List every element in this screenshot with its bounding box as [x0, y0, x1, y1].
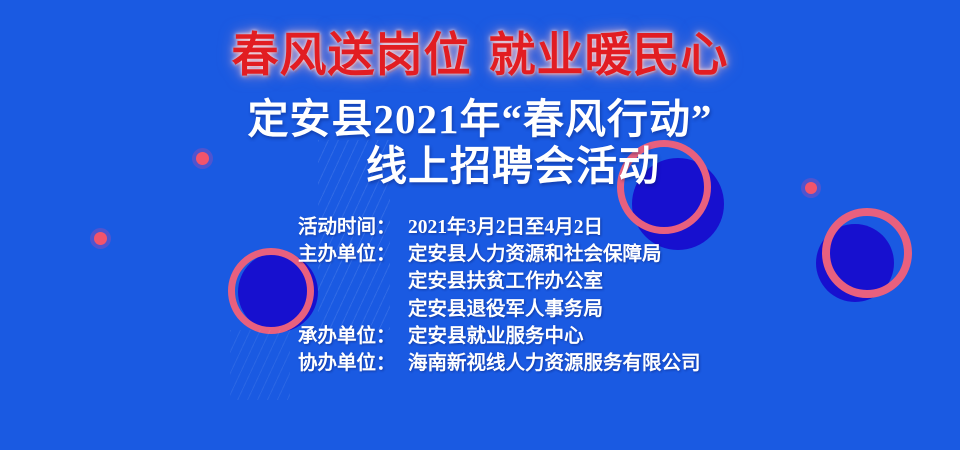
detail-label: 活动时间：	[298, 214, 408, 241]
detail-value: 海南新视线人力资源服务有限公司	[408, 350, 701, 377]
poster-headline: 春风送岗位就业暖民心	[0, 31, 960, 82]
poster-details: 活动时间： 2021年3月2日至4月2日 主办单位： 定安县人力资源和社会保障局…	[298, 214, 701, 377]
detail-row-coorganizer: 协办单位： 海南新视线人力资源服务有限公司	[298, 350, 701, 377]
detail-row-organizer: 主办单位： 定安县人力资源和社会保障局 定安县扶贫工作办公室 定安县退役军人事务…	[298, 241, 701, 323]
detail-value: 2021年3月2日至4月2日	[408, 214, 603, 241]
detail-label: 主办单位：	[298, 241, 408, 268]
detail-value-group: 定安县人力资源和社会保障局 定安县扶贫工作办公室 定安县退役军人事务局	[408, 241, 662, 323]
detail-label: 协办单位：	[298, 350, 408, 377]
detail-value-group: 海南新视线人力资源服务有限公司	[408, 350, 701, 377]
poster-canvas: 春风送岗位就业暖民心 定安县2021年“春风行动” 线上招聘会活动 活动时间： …	[0, 0, 960, 450]
detail-value: 定安县扶贫工作办公室	[408, 268, 662, 295]
detail-value: 定安县退役军人事务局	[408, 296, 662, 323]
detail-row-event-time: 活动时间： 2021年3月2日至4月2日	[298, 214, 701, 241]
detail-value: 定安县人力资源和社会保障局	[408, 241, 662, 268]
detail-value: 定安县就业服务中心	[408, 323, 584, 350]
poster-subtitle: 定安县2021年“春风行动” 线上招聘会活动	[0, 96, 960, 189]
detail-value-group: 定安县就业服务中心	[408, 323, 584, 350]
detail-label: 承办单位：	[298, 323, 408, 350]
headline-part-1: 春风送岗位	[232, 30, 472, 82]
subtitle-line-1: 定安县2021年“春风行动”	[248, 96, 713, 142]
detail-value-group: 2021年3月2日至4月2日	[408, 214, 603, 241]
subtitle-line-2: 线上招聘会活动	[0, 143, 960, 190]
headline-part-2: 就业暖民心	[489, 30, 729, 82]
poster-text-layer: 春风送岗位就业暖民心 定安县2021年“春风行动” 线上招聘会活动 活动时间： …	[0, 0, 960, 450]
detail-row-host: 承办单位： 定安县就业服务中心	[298, 323, 701, 350]
